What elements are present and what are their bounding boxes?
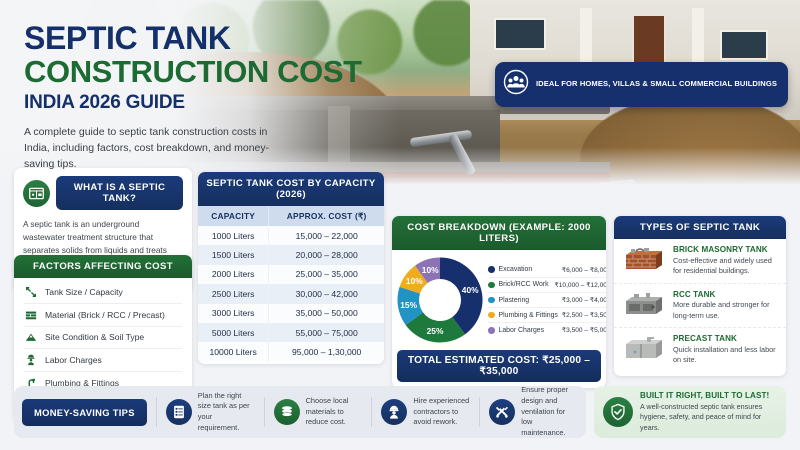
total-estimated-cost-bar: TOTAL ESTIMATED COST: ₹25,000 – ₹35,000 [397, 350, 601, 382]
cell-cost: 95,000 – 1,30,000 [269, 342, 384, 361]
type-item: PRECAST TANK Quick installation and less… [614, 328, 786, 372]
expand-arrows-icon [24, 285, 37, 298]
type-title: RCC TANK [673, 290, 778, 299]
factor-item: Site Condition & Soil Type [24, 327, 182, 350]
checklist-icon [166, 399, 192, 425]
legend-value: ₹2,500 – ₹3,500 [562, 311, 606, 319]
table-row: 10000 Liters 95,000 – 1,30,000 [198, 342, 384, 361]
tip-text: Ensure proper design and ventilation for… [521, 385, 578, 439]
cost-by-capacity-card: SEPTIC TANK COST BY CAPACITY (2026) CAPA… [198, 172, 384, 364]
cell-capacity: 10000 Liters [198, 342, 269, 361]
legend-value: ₹10,000 – ₹12,000 [555, 281, 606, 289]
worker-icon [24, 354, 37, 367]
page-title-line3: INDIA 2026 GUIDE [24, 92, 424, 114]
donut-and-legend: 40% 25% 15% 10% 10% Excavation ₹6,000 – … [392, 250, 606, 348]
table-row: 1000 Liters 15,000 – 22,000 [198, 226, 384, 245]
type-text: RCC TANK More durable and stronger for l… [673, 290, 778, 322]
column-header-cost: APPROX. COST (₹) [269, 206, 384, 226]
brick-tank-icon [622, 245, 666, 275]
divider [264, 397, 265, 427]
cell-capacity: 3000 Liters [198, 304, 269, 323]
infographic-page: SEPTIC TANK CONSTRUCTION COST INDIA 2026… [0, 0, 800, 450]
tip-item: Plan the right size tank as per your req… [166, 391, 255, 434]
donut-slice-label: 10% [420, 265, 440, 275]
page-title-line2: CONSTRUCTION COST [24, 56, 424, 89]
legend-label: Labor Charges [499, 327, 545, 334]
legend-color-dot [488, 266, 495, 273]
table-header-row: CAPACITY APPROX. COST (₹) [198, 206, 384, 226]
legend-label: Brick/RCC Work [499, 281, 549, 288]
factor-item: Material (Brick / RCC / Precast) [24, 304, 182, 327]
page-title-line1: SEPTIC TANK [24, 22, 424, 55]
built-it-right-card: BUILT IT RIGHT, BUILT TO LAST! A well-co… [594, 386, 786, 438]
title-block: SEPTIC TANK CONSTRUCTION COST INDIA 2026… [24, 22, 424, 173]
bricks-layers-icon [24, 308, 37, 321]
built-title: BUILT IT RIGHT, BUILT TO LAST! [640, 391, 777, 400]
ideal-for-badge-label: IDEAL FOR HOMES, VILLAS & SMALL COMMERCI… [536, 79, 777, 89]
cost-table-heading: SEPTIC TANK COST BY CAPACITY (2026) [198, 172, 384, 206]
legend-color-dot [488, 282, 495, 289]
cost-breakdown-legend: Excavation ₹6,000 – ₹8,000 Brick/RCC Wor… [483, 263, 606, 338]
table-row: 5000 Liters 55,000 – 75,000 [198, 323, 384, 342]
what-is-header: WHAT IS A SEPTIC TANK? [23, 176, 183, 210]
legend-color-dot [488, 312, 495, 319]
table-row: 1500 Liters 20,000 – 28,000 [198, 245, 384, 264]
legend-item: Plastering ₹3,000 – ₹4,000 [488, 293, 606, 308]
type-desc: Quick installation and less labor on sit… [673, 345, 778, 366]
legend-label: Plumbing & Fittings [499, 312, 558, 319]
factors-heading: FACTORS AFFECTING COST [14, 255, 192, 278]
table-row: 3000 Liters 35,000 – 50,000 [198, 304, 384, 323]
type-title: PRECAST TANK [673, 334, 778, 343]
divider [479, 397, 480, 427]
legend-label: Excavation [499, 266, 533, 273]
cell-capacity: 1000 Liters [198, 226, 269, 245]
page-subtitle: A complete guide to septic tank construc… [24, 125, 289, 173]
cost-table: CAPACITY APPROX. COST (₹) 1000 Liters 15… [198, 206, 384, 362]
divider [371, 397, 372, 427]
legend-value: ₹3,500 – ₹5,000 [562, 326, 606, 334]
table-row: 2000 Liters 25,000 – 35,000 [198, 265, 384, 284]
factor-item: Labor Charges [24, 349, 182, 372]
built-desc: A well-constructed septic tank ensures h… [640, 402, 777, 433]
donut-slice-label: 40% [460, 285, 480, 295]
tools-wrench-screwdriver-icon [489, 399, 515, 425]
divider [156, 397, 157, 427]
type-item: RCC TANK More durable and stronger for l… [614, 284, 786, 329]
cell-cost: 15,000 – 22,000 [269, 226, 384, 245]
cell-capacity: 1500 Liters [198, 245, 269, 264]
donut-slice-label: 15% [399, 300, 419, 310]
cost-breakdown-donut-chart: 40% 25% 15% 10% 10% [397, 257, 483, 343]
factor-item: Tank Size / Capacity [24, 281, 182, 304]
donut-slice-label: 10% [404, 276, 424, 286]
septic-tank-diagram-icon [23, 180, 50, 207]
what-is-heading: WHAT IS A SEPTIC TANK? [56, 176, 183, 210]
cell-cost: 25,000 – 35,000 [269, 265, 384, 284]
cell-cost: 30,000 – 42,000 [269, 284, 384, 303]
legend-item: Labor Charges ₹3,500 – ₹5,000 [488, 323, 606, 337]
cell-capacity: 5000 Liters [198, 323, 269, 342]
types-heading: TYPES OF SEPTIC TANK [614, 216, 786, 239]
cost-breakdown-card: COST BREAKDOWN (EXAMPLE: 2000 LITERS) 40… [392, 216, 606, 388]
people-group-icon [503, 69, 529, 100]
factor-label: Labor Charges [45, 355, 102, 365]
type-text: BRICK MASONRY TANK Cost-effective and wi… [673, 245, 778, 277]
tip-text: Choose local materials to reduce cost. [306, 396, 363, 428]
legend-label: Plastering [499, 297, 530, 304]
legend-item: Brick/RCC Work ₹10,000 – ₹12,000 [488, 278, 606, 293]
column-header-capacity: CAPACITY [198, 206, 269, 226]
legend-value: ₹3,000 – ₹4,000 [562, 296, 606, 304]
legend-value: ₹6,000 – ₹8,000 [562, 266, 606, 274]
rcc-tank-icon [622, 290, 666, 320]
tip-text: Hire experienced contractors to avoid re… [413, 396, 470, 428]
cell-cost: 55,000 – 75,000 [269, 323, 384, 342]
cell-cost: 35,000 – 50,000 [269, 304, 384, 323]
coins-stack-icon [274, 399, 300, 425]
factor-label: Material (Brick / RCC / Precast) [45, 310, 165, 320]
shield-check-icon [603, 397, 633, 427]
legend-item: Plumbing & Fittings ₹2,500 – ₹3,500 [488, 308, 606, 323]
cell-cost: 20,000 – 28,000 [269, 245, 384, 264]
table-row: 2500 Liters 30,000 – 42,000 [198, 284, 384, 303]
ideal-for-badge: IDEAL FOR HOMES, VILLAS & SMALL COMMERCI… [495, 62, 788, 107]
types-of-septic-tank-card: TYPES OF SEPTIC TANK BRICK MASONR [614, 216, 786, 376]
built-text: BUILT IT RIGHT, BUILT TO LAST! A well-co… [640, 391, 777, 433]
tip-item: Ensure proper design and ventilation for… [489, 385, 578, 439]
worker-helmet-icon [381, 399, 407, 425]
cell-capacity: 2000 Liters [198, 265, 269, 284]
tip-item: Choose local materials to reduce cost. [274, 396, 363, 428]
type-text: PRECAST TANK Quick installation and less… [673, 334, 778, 366]
cost-breakdown-heading: COST BREAKDOWN (EXAMPLE: 2000 LITERS) [392, 216, 606, 250]
tip-text: Plan the right size tank as per your req… [198, 391, 255, 434]
type-item: BRICK MASONRY TANK Cost-effective and wi… [614, 239, 786, 284]
legend-item: Excavation ₹6,000 – ₹8,000 [488, 263, 606, 278]
type-desc: More durable and stronger for long-term … [673, 300, 778, 321]
legend-color-dot [488, 297, 495, 304]
tip-item: Hire experienced contractors to avoid re… [381, 396, 470, 428]
type-desc: Cost-effective and widely used for resid… [673, 256, 778, 277]
cell-capacity: 2500 Liters [198, 284, 269, 303]
factor-label: Site Condition & Soil Type [45, 332, 144, 342]
precast-tank-icon [622, 334, 666, 364]
money-saving-tips-strip: MONEY-SAVING TIPS Plan the right size ta… [14, 386, 586, 438]
legend-color-dot [488, 327, 495, 334]
factor-label: Tank Size / Capacity [45, 287, 123, 297]
type-title: BRICK MASONRY TANK [673, 245, 778, 254]
mountain-terrain-icon [24, 331, 37, 344]
donut-slice-label: 25% [425, 326, 445, 336]
money-saving-tips-button[interactable]: MONEY-SAVING TIPS [22, 399, 147, 426]
